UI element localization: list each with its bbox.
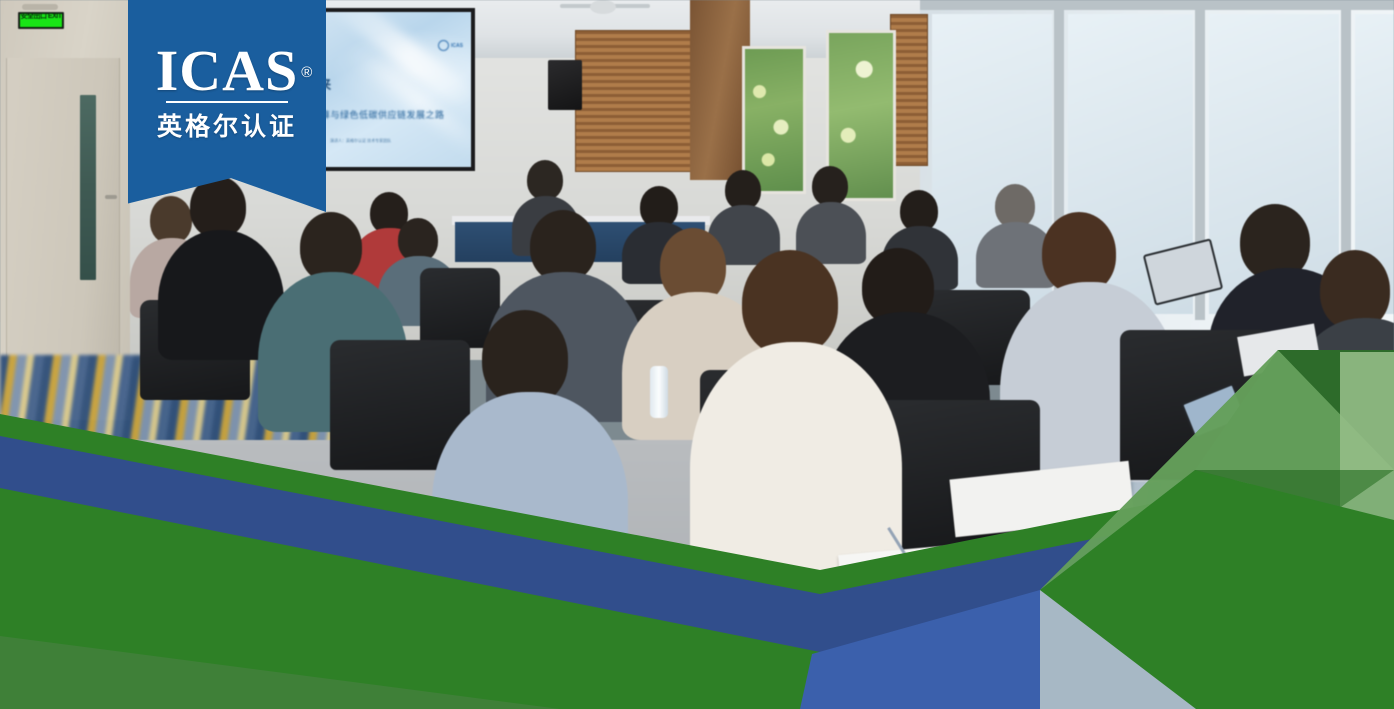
pale-green-right-strip <box>1340 352 1394 470</box>
icas-wordmark: ICAS ® <box>156 43 299 99</box>
icas-wordmark-text: ICAS <box>156 38 299 103</box>
registered-mark-icon: ® <box>301 45 313 101</box>
banner-image: ICAS 未来 碳核算与绿色低碳供应链发展之路 演讲人：英格尔认证 技术专家团队… <box>0 0 1394 709</box>
icas-chinese-name: 英格尔认证 <box>157 107 297 143</box>
brand-overlay: ICAS ® 英格尔认证 <box>0 0 1394 709</box>
